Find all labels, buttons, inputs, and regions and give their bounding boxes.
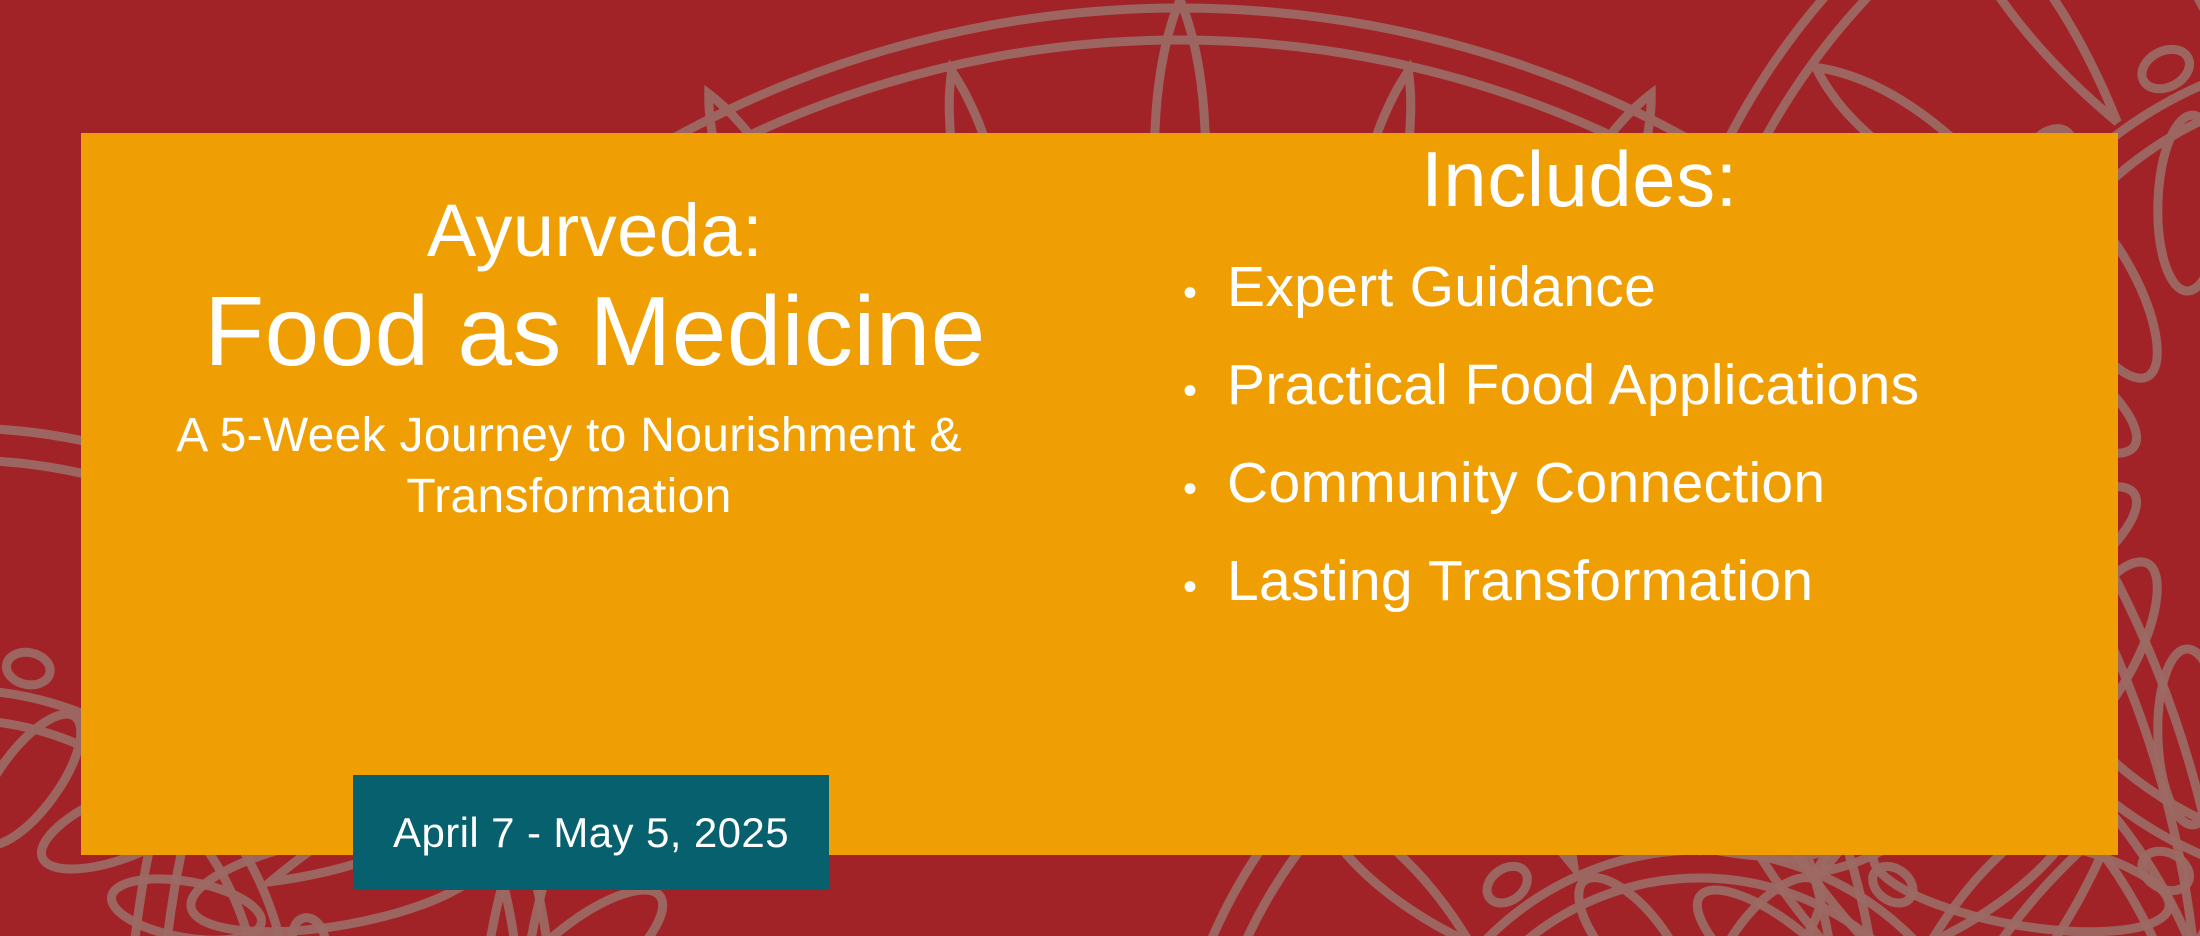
list-item-label: Practical Food Applications — [1227, 357, 1919, 414]
list-item-label: Expert Guidance — [1227, 259, 1656, 316]
list-item-label: Lasting Transformation — [1227, 553, 1813, 610]
content-card: Ayurveda: Food as Medicine A 5-Week Jour… — [81, 133, 2118, 855]
list-item: • Expert Guidance — [1183, 259, 2118, 316]
includes-list: • Expert Guidance • Practical Food Appli… — [1121, 259, 2118, 610]
bullet-dot-icon: • — [1183, 371, 1227, 411]
course-main-title: Food as Medicine — [81, 277, 1109, 387]
course-subtitle: A 5-Week Journey to Nourishment & Transf… — [81, 405, 1109, 528]
date-range-label: April 7 - May 5, 2025 — [393, 809, 789, 857]
list-item-label: Community Connection — [1227, 455, 1825, 512]
bullet-dot-icon: • — [1183, 273, 1227, 313]
promotional-poster: Ayurveda: Food as Medicine A 5-Week Jour… — [0, 0, 2200, 936]
list-item: • Lasting Transformation — [1183, 553, 2118, 610]
bullet-dot-icon: • — [1183, 469, 1227, 509]
includes-heading: Includes: — [1121, 137, 2118, 223]
right-column: Includes: • Expert Guidance • Practical … — [1121, 133, 2118, 855]
title-block: Ayurveda: Food as Medicine A 5-Week Jour… — [81, 191, 1121, 528]
list-item: • Community Connection — [1183, 455, 2118, 512]
left-column: Ayurveda: Food as Medicine A 5-Week Jour… — [81, 133, 1121, 855]
bullet-dot-icon: • — [1183, 567, 1227, 607]
course-subject-title: Ayurveda: — [81, 191, 1109, 271]
list-item: • Practical Food Applications — [1183, 357, 2118, 414]
date-range-badge: April 7 - May 5, 2025 — [353, 775, 829, 890]
